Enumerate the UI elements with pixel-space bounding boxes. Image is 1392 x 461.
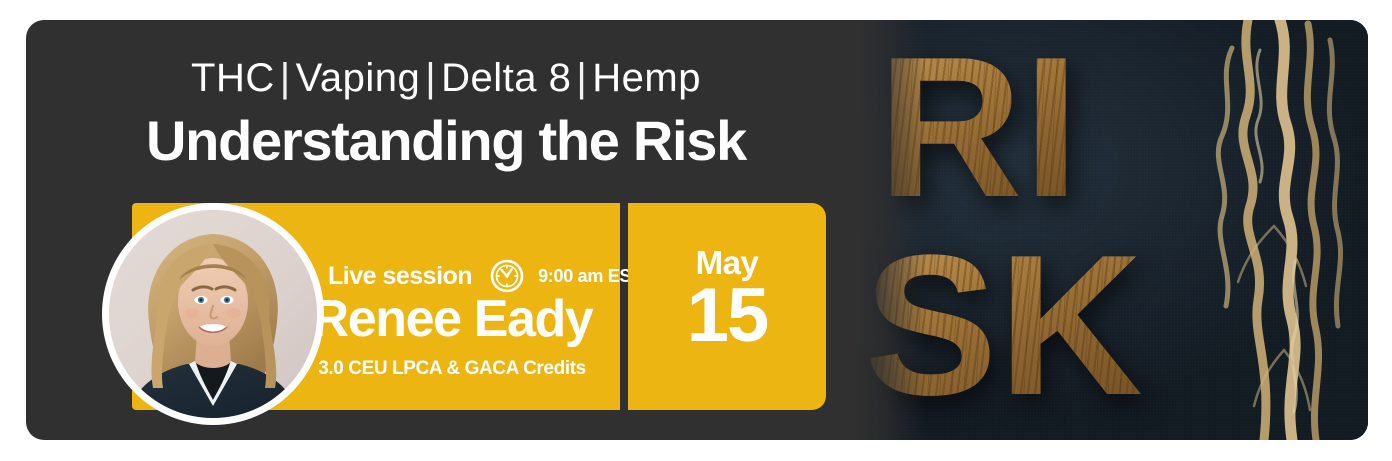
event-day: 15 [628, 278, 826, 354]
speaker-name: Renee Eady [282, 289, 622, 349]
credits-label: 3.0 CEU LPCA & GACA Credits [282, 358, 622, 380]
risk-photo: RI SK [856, 20, 1368, 440]
avatar [102, 203, 324, 425]
headshot-illustration [109, 210, 317, 418]
topic-separator-1: | [275, 56, 296, 100]
speaker-headshot [109, 210, 317, 418]
page-title: Understanding the Risk [26, 108, 866, 173]
topics-subtitle: THC|Vaping|Delta 8|Hemp [26, 56, 866, 101]
topic-hemp: Hemp [592, 56, 701, 100]
session-cards: Live session 9:00 [132, 203, 826, 410]
topic-vaping: Vaping [296, 56, 421, 100]
clock-icon [490, 259, 524, 293]
live-session-row: Live session 9:00 [328, 259, 642, 293]
rope-icon [1188, 20, 1358, 440]
topic-separator-3: | [571, 56, 592, 100]
photo-left-fade [856, 20, 926, 440]
webinar-banner: RI SK THC|Vaping|Delta 8|Hemp Understand… [26, 20, 1368, 440]
topic-delta8: Delta 8 [441, 56, 571, 100]
session-info-card: Live session 9:00 [132, 203, 620, 410]
topic-thc: THC [191, 56, 275, 100]
live-session-label: Live session [328, 262, 472, 291]
topic-separator-2: | [420, 56, 441, 100]
session-time: 9:00 am EST [538, 266, 642, 287]
event-date-card: May 15 [628, 203, 826, 410]
